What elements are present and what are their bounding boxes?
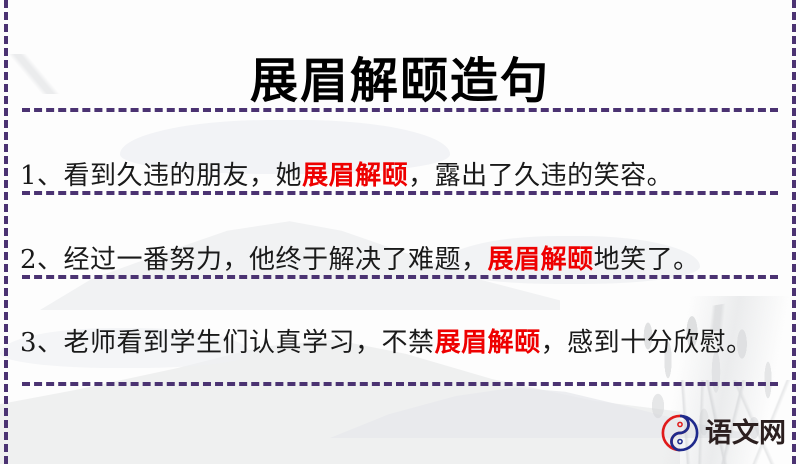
content-area: 展眉解颐造句 1、看到久违的朋友，她展眉解颐，露出了久违的笑容。 2、经过一番努… — [0, 0, 800, 464]
sentence-item: 3、老师看到学生们认真学习，不禁展眉解颐，感到十分欣慰。 — [20, 320, 760, 366]
sentence-text-before: 老师看到学生们认真学习，不禁 — [64, 328, 435, 358]
dashed-divider — [22, 382, 778, 386]
sentence-text-after: 地笑了。 — [594, 245, 700, 275]
sentence-text-after: ，露出了久违的笑容。 — [408, 161, 673, 191]
idiom-highlight: 展眉解颐 — [435, 328, 541, 358]
page-title: 展眉解颐造句 — [0, 54, 800, 109]
site-watermark-label: 语文网 — [705, 420, 786, 447]
dashed-divider — [22, 275, 778, 279]
idiom-highlight: 展眉解颐 — [488, 245, 594, 275]
sentence-number: 2、 — [20, 245, 64, 275]
page-root: 展眉解颐造句 1、看到久违的朋友，她展眉解颐，露出了久违的笑容。 2、经过一番努… — [0, 0, 800, 464]
sentence-number: 1、 — [20, 161, 64, 191]
sentence-text-before: 看到久违的朋友，她 — [64, 161, 303, 191]
dashed-divider — [22, 191, 778, 195]
sentence-text-before: 经过一番努力，他终于解决了难题， — [64, 245, 488, 275]
right-dashed-border — [792, 0, 796, 464]
left-dashed-border — [4, 0, 8, 464]
idiom-highlight: 展眉解颐 — [302, 161, 408, 191]
sentence-number: 3、 — [20, 328, 64, 358]
sentence-text-after: ，感到十分欣慰。 — [541, 328, 753, 358]
site-watermark: 语文网 — [661, 414, 786, 452]
dashed-divider — [22, 108, 778, 112]
yin-yang-fish-emblem-icon — [661, 414, 699, 452]
